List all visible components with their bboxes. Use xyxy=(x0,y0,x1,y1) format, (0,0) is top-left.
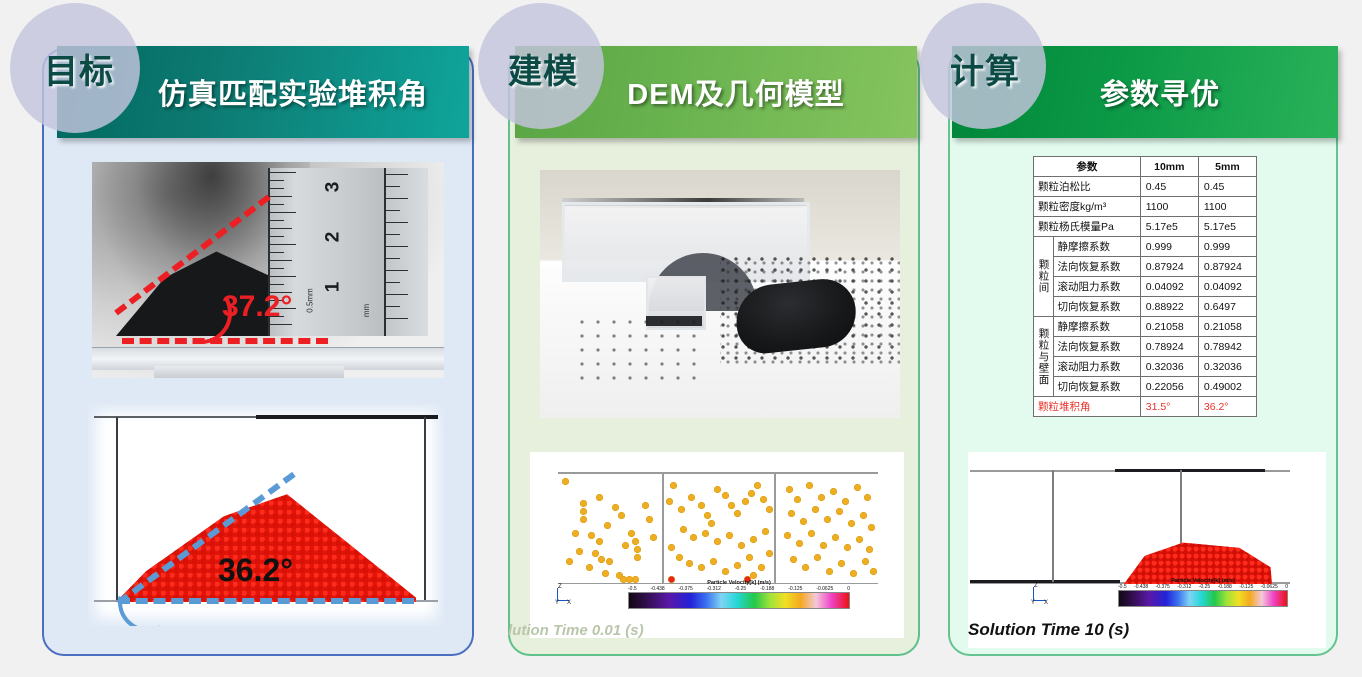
row-value-10mm: 0.32036 xyxy=(1140,357,1198,377)
cb3-tick-0: -0.5 xyxy=(1118,584,1127,590)
ruler-unit-mm: mm xyxy=(362,304,371,317)
sim-frame-top-bold xyxy=(256,415,438,419)
table-row: 切向恢复系数 0.22056 0.49002 xyxy=(1034,377,1257,397)
row-value-5mm: 0.45 xyxy=(1198,177,1256,197)
row-value-5mm: 0.21058 xyxy=(1198,317,1256,337)
row-value-5mm: 1100 xyxy=(1198,197,1256,217)
cb3-tick-8: 0 xyxy=(1285,584,1288,590)
sim3-domain xyxy=(1040,470,1326,584)
cb3-tick-2: -0.375 xyxy=(1156,584,1170,590)
row-value-10mm: 0.87924 xyxy=(1140,257,1198,277)
row-value-10mm: 0.22056 xyxy=(1140,377,1198,397)
experiment-ruler-photo: 1 2 3 0.5mm mm 37.2° xyxy=(92,162,444,378)
table-row: 颗粒泊松比 0.45 0.45 xyxy=(1034,177,1257,197)
colorbar-panel2: Particle Velocity[k] (m/s) -0.5 -0.438 -… xyxy=(628,580,850,609)
simulation-pile-figure: 36.2° xyxy=(88,404,444,626)
cb3-tick-3: -0.312 xyxy=(1177,584,1191,590)
axis-label-z-2: Z xyxy=(558,584,562,590)
cb3-tick-4: -0.25 xyxy=(1199,584,1210,590)
row-value-10mm: 0.04092 xyxy=(1140,277,1198,297)
row-label: 颗粒泊松比 xyxy=(1034,177,1141,197)
colorbar-panel3: Particle Velocity[k] (m/s) -0.5 -0.438 -… xyxy=(1118,578,1288,607)
axis-label-z-3: Z xyxy=(1034,583,1038,589)
row-value-5mm: 0.49002 xyxy=(1198,377,1256,397)
row-value-10mm: 0.21058 xyxy=(1140,317,1198,337)
ruler-mark-1: 1 xyxy=(322,282,344,293)
step-label-modeling: 建模 xyxy=(508,44,578,93)
cb3-tick-1: -0.438 xyxy=(1134,584,1148,590)
colorbar-gradient-2 xyxy=(628,592,850,609)
row-value-5mm: 0.78942 xyxy=(1198,337,1256,357)
optimized-simulation-figure: Z Y X Particle Velocity[k] (m/s) -0.5 -0… xyxy=(968,452,1326,648)
cb2-tick-4: -0.25 xyxy=(735,586,746,592)
row-label: 颗粒密度kg/m³ xyxy=(1034,197,1141,217)
row-value-5mm: 0.32036 xyxy=(1198,357,1256,377)
table-row: 颗粒杨氏模量Pa 5.17e5 5.17e5 xyxy=(1034,217,1257,237)
experiment-angle-label: 37.2° xyxy=(222,290,292,324)
group-label-particle-wall: 颗粒与壁面 xyxy=(1034,317,1054,397)
experiment-box-photo xyxy=(540,170,900,418)
dem-particle-simulation: Z Y X Particle Velocity[k] (m/s) -0.5 -0… xyxy=(530,452,904,638)
row-label: 切向恢复系数 xyxy=(1053,377,1140,397)
row-label: 滚动阻力系数 xyxy=(1053,277,1140,297)
row-value-5mm: 5.17e5 xyxy=(1198,217,1256,237)
steel-ruler-secondary xyxy=(384,168,428,336)
cb3-tick-5: -0.188 xyxy=(1218,584,1232,590)
row-value-10mm: 0.45 xyxy=(1140,177,1198,197)
solution-time-panel3: Solution Time 10 (s) xyxy=(968,620,1129,640)
table-row: 滚动阻力系数 0.32036 0.32036 xyxy=(1034,357,1257,377)
sim-baseline-dashed-blue xyxy=(118,598,414,604)
photo-base-plate-lower xyxy=(154,366,344,378)
cb2-tick-0: -0.5 xyxy=(628,586,637,592)
cb2-tick-6: -0.125 xyxy=(788,586,802,592)
result-label: 颗粒堆积角 xyxy=(1034,397,1141,417)
result-value-5mm: 36.2° xyxy=(1198,397,1256,417)
row-label: 法向恢复系数 xyxy=(1053,337,1140,357)
cb2-tick-2: -0.375 xyxy=(679,586,693,592)
axis-label-x-3: X xyxy=(1044,600,1048,606)
row-label: 切向恢复系数 xyxy=(1053,297,1140,317)
table-row: 颗粒间 静摩擦系数 0.999 0.999 xyxy=(1034,237,1257,257)
cb3-tick-6: -0.125 xyxy=(1239,584,1253,590)
step-label-calculation: 计算 xyxy=(950,44,1020,93)
th-parameter: 参数 xyxy=(1034,157,1141,177)
table-row: 法向恢复系数 0.87924 0.87924 xyxy=(1034,257,1257,277)
cb3-tick-7: -0.0625 xyxy=(1261,584,1278,590)
table-row: 颗粒与壁面 静摩擦系数 0.21058 0.21058 xyxy=(1034,317,1257,337)
ruler-mark-3: 3 xyxy=(322,182,344,193)
th-5mm: 5mm xyxy=(1198,157,1256,177)
sim-frame-left xyxy=(116,417,118,601)
row-label: 法向恢复系数 xyxy=(1053,257,1140,277)
cb2-tick-8: 0 xyxy=(847,586,850,592)
cb2-tick-1: -0.438 xyxy=(651,586,665,592)
ruler-unit-half-mm: 0.5mm xyxy=(306,288,315,312)
row-value-5mm: 0.6497 xyxy=(1198,297,1256,317)
row-label: 滚动阻力系数 xyxy=(1053,357,1140,377)
table-row-result: 颗粒堆积角 31.5° 36.2° xyxy=(1034,397,1257,417)
row-label: 静摩擦系数 xyxy=(1053,317,1140,337)
cb2-tick-5: -0.188 xyxy=(760,586,774,592)
row-value-10mm: 0.88922 xyxy=(1140,297,1198,317)
result-value-10mm: 31.5° xyxy=(1140,397,1198,417)
parameter-table: 参数 10mm 5mm 颗粒泊松比 0.45 0.45 颗粒密度kg/m³ 11… xyxy=(1033,156,1257,417)
row-label: 颗粒杨氏模量Pa xyxy=(1034,217,1141,237)
row-label: 静摩擦系数 xyxy=(1053,237,1140,257)
cb2-tick-3: -0.312 xyxy=(707,586,721,592)
table-row: 滚动阻力系数 0.04092 0.04092 xyxy=(1034,277,1257,297)
row-value-5mm: 0.87924 xyxy=(1198,257,1256,277)
sim2-domain xyxy=(558,472,878,584)
axis-label-y-2: Y xyxy=(555,600,559,606)
table-row: 颗粒密度kg/m³ 1100 1100 xyxy=(1034,197,1257,217)
row-value-10mm: 0.78924 xyxy=(1140,337,1198,357)
row-value-5mm: 0.04092 xyxy=(1198,277,1256,297)
cb2-tick-7: -0.0625 xyxy=(816,586,833,592)
baseline-dashed-red xyxy=(122,338,328,344)
th-10mm: 10mm xyxy=(1140,157,1198,177)
row-value-10mm: 1100 xyxy=(1140,197,1198,217)
table-row: 法向恢复系数 0.78924 0.78942 xyxy=(1034,337,1257,357)
row-value-5mm: 0.999 xyxy=(1198,237,1256,257)
row-value-10mm: 5.17e5 xyxy=(1140,217,1198,237)
spilled-powder-dust-left xyxy=(580,320,700,380)
ruler-mark-2: 2 xyxy=(322,232,344,243)
simulation-angle-label: 36.2° xyxy=(218,552,293,589)
sim-frame-right xyxy=(424,417,426,601)
table-row: 切向恢复系数 0.88922 0.6497 xyxy=(1034,297,1257,317)
colorbar-ticks-3: -0.5 -0.438 -0.375 -0.312 -0.25 -0.188 -… xyxy=(1118,584,1288,590)
step-label-goal: 目标 xyxy=(44,44,114,93)
table-header-row: 参数 10mm 5mm xyxy=(1034,157,1257,177)
group-label-particle-particle: 颗粒间 xyxy=(1034,237,1054,317)
row-value-10mm: 0.999 xyxy=(1140,237,1198,257)
colorbar-gradient-3 xyxy=(1118,590,1288,607)
colorbar-ticks-2: -0.5 -0.438 -0.375 -0.312 -0.25 -0.188 -… xyxy=(628,586,850,592)
axis-label-y-3: Y xyxy=(1031,600,1035,606)
slide-canvas: 1 2 3 0.5mm mm 37.2° xyxy=(0,0,1362,677)
axis-label-x-2: X xyxy=(567,600,571,606)
solution-time-panel2: lution Time 0.01 (s) xyxy=(508,622,644,639)
